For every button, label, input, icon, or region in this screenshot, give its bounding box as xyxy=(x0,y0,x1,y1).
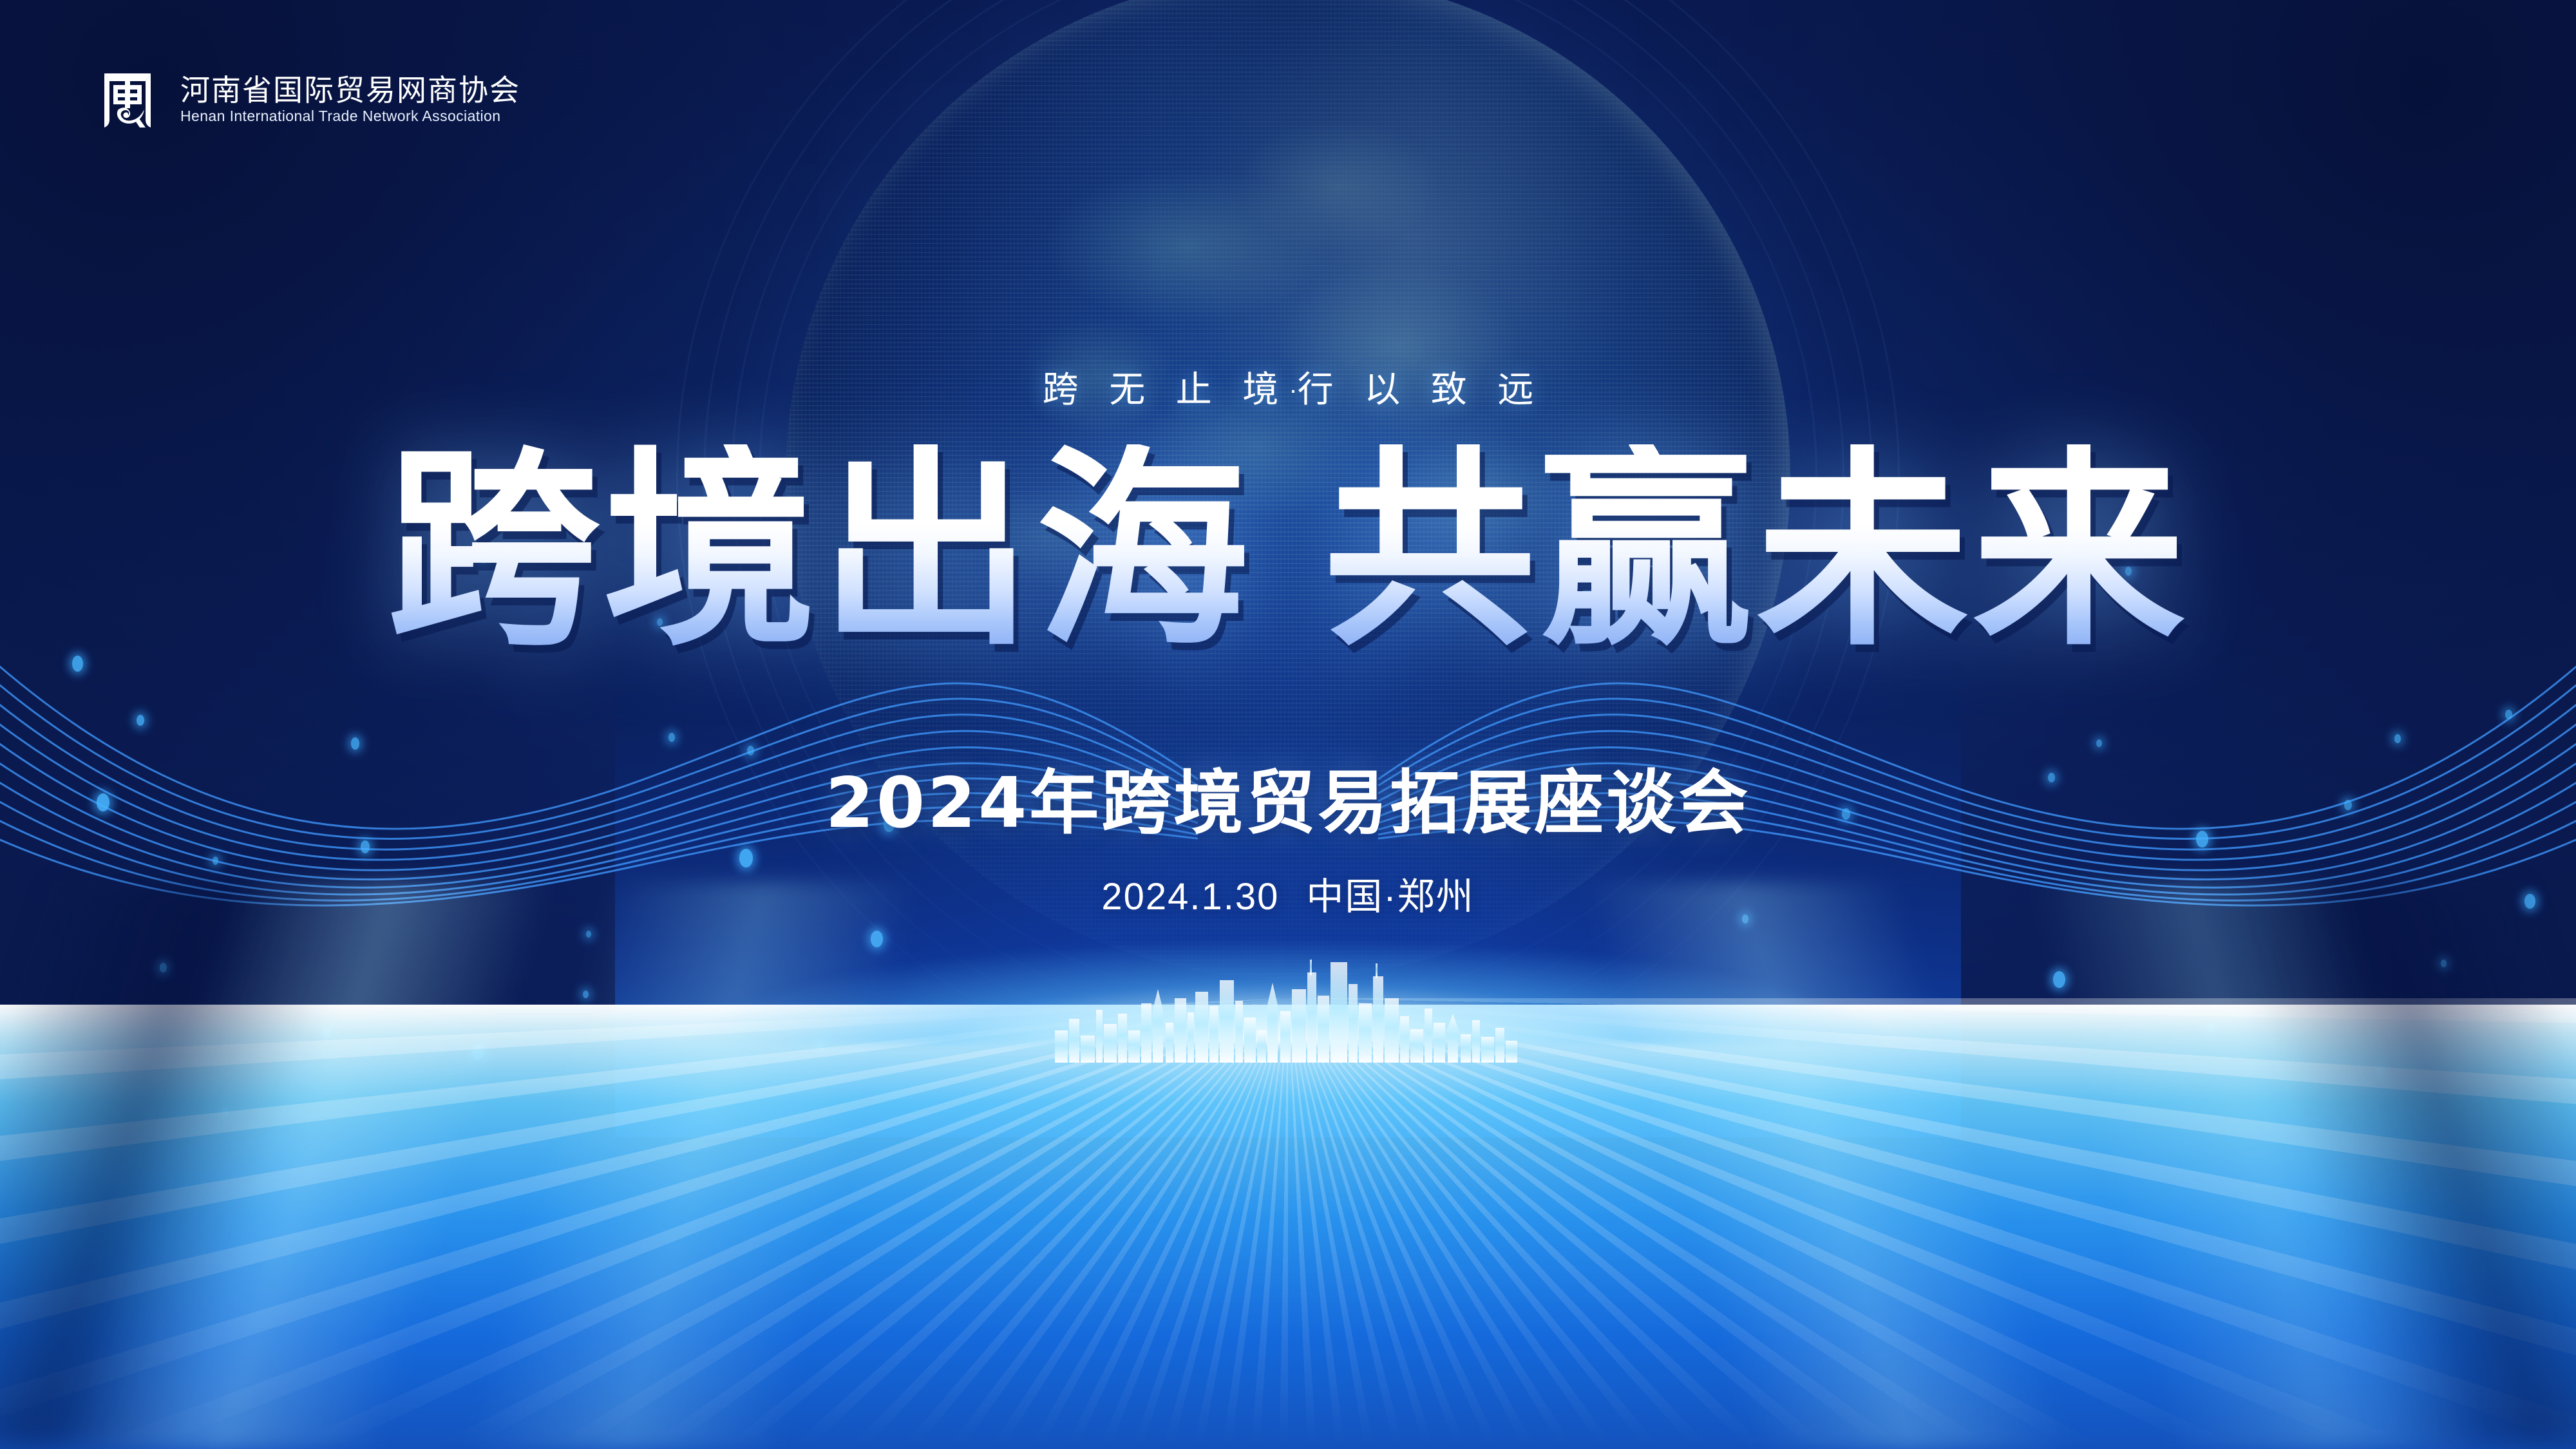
henan-trade-seal-emblem-icon xyxy=(97,64,158,134)
tagline-left: 跨 无 止 境 xyxy=(1043,369,1289,410)
tagline: 跨 无 止 境·行 以 致 远 xyxy=(0,361,2576,413)
event-date: 2024.1.30 xyxy=(1101,876,1279,918)
headline-part-1: 跨境出海 xyxy=(387,427,1253,674)
event-location: 中国·郑州 xyxy=(1306,876,1474,918)
event-subtitle: 2024年跨境贸易拓展座谈会 xyxy=(0,747,2576,848)
organization-name-cn: 河南省国际贸易网商协会 xyxy=(180,75,520,105)
tagline-separator: · xyxy=(1289,375,1297,404)
headline-part-2: 共赢未来 xyxy=(1323,427,2189,674)
event-meta: 2024.1.30中国·郑州 xyxy=(0,866,2576,920)
poster-canvas: 河南省国际贸易网商协会 Henan International Trade Ne… xyxy=(0,0,2576,1449)
tagline-right: 行 以 致 远 xyxy=(1298,369,1544,410)
organization-logo[interactable]: 河南省国际贸易网商协会 Henan International Trade Ne… xyxy=(97,64,520,134)
organization-name-en: Henan International Trade Network Associ… xyxy=(180,109,520,124)
page-title: 跨境出海共赢未来 xyxy=(0,444,2576,657)
poster-content: 河南省国际贸易网商协会 Henan International Trade Ne… xyxy=(0,0,2576,1449)
